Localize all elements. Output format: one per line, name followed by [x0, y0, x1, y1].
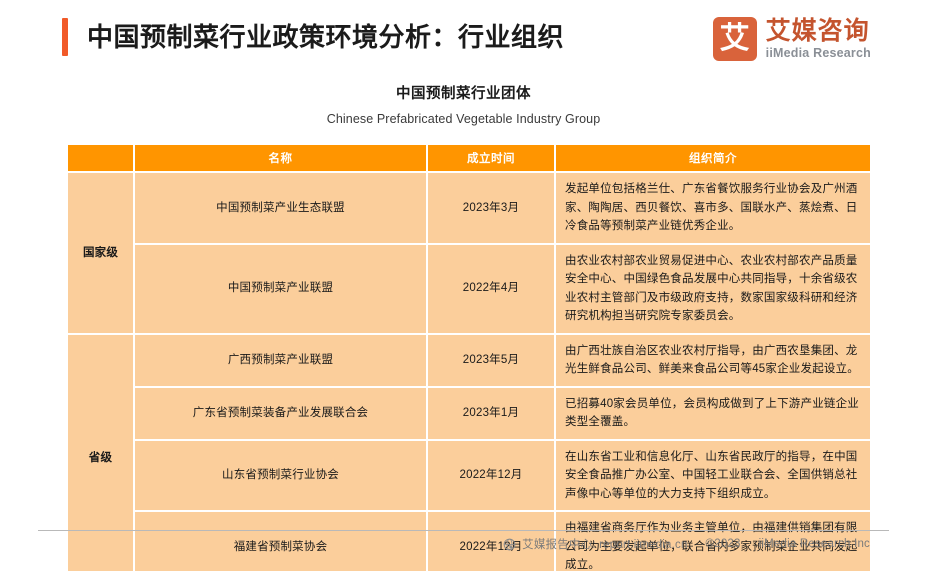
group-desc: 由广西壮族自治区农业农村厅指导，由广西农垦集团、龙光生鲜食品公司、鲜美来食品公司…: [556, 335, 870, 386]
group-desc: 由农业农村部农业贸易促进中心、农业农村部农产品质量安全中心、中国绿色食品发展中心…: [556, 245, 870, 333]
subtitle-cn: 中国预制菜行业团体: [0, 82, 927, 103]
group-name: 广东省预制菜装备产业发展联合会: [135, 388, 426, 439]
group-desc: 在山东省工业和信息化厅、山东省民政厅的指导，在中国安全食品推广办公室、中国轻工业…: [556, 441, 870, 511]
group-name: 山东省预制菜行业协会: [135, 441, 426, 511]
group-name: 福建省预制菜协会: [135, 512, 426, 571]
logo-name-cn: 艾媒咨询: [766, 18, 871, 44]
table-row: 广东省预制菜装备产业发展联合会 2023年1月 已招募40家会员单位，会员构成做…: [68, 388, 870, 439]
table-row: 省级 广西预制菜产业联盟 2023年5月 由广西壮族自治区农业农村厅指导，由广西…: [68, 335, 870, 386]
col-header-name: 名称: [135, 145, 426, 171]
title-block: 中国预制菜行业政策环境分析：行业组织: [62, 18, 564, 56]
industry-group-table: 名称 成立时间 组织简介 国家级 中国预制菜产业生态联盟 2023年3月 发起单…: [66, 143, 872, 571]
table-header-row: 名称 成立时间 组织简介: [68, 145, 870, 171]
group-name: 中国预制菜产业生态联盟: [135, 173, 426, 243]
group-date: 2022年4月: [428, 245, 554, 333]
col-header-date: 成立时间: [428, 145, 554, 171]
logo-name-en: iiMedia Research: [766, 45, 871, 61]
slide-page: 中国预制菜行业政策环境分析：行业组织 艾 艾媒咨询 iiMedia Resear…: [0, 0, 927, 571]
page-footer: 艾媒报告中心: report.iimedia.cn ©2023 iiMedia …: [503, 536, 870, 552]
footer-copyright: ©2023: [706, 538, 741, 550]
logo-text-block: 艾媒咨询 iiMedia Research: [766, 18, 871, 61]
table-row: 国家级 中国预制菜产业生态联盟 2023年3月 发起单位包括格兰仕、广东省餐饮服…: [68, 173, 870, 243]
level-cell-provincial: 省级: [68, 335, 133, 571]
col-header-desc: 组织简介: [556, 145, 870, 171]
table-row: 中国预制菜产业联盟 2022年4月 由农业农村部农业贸易促进中心、农业农村部农产…: [68, 245, 870, 333]
globe-icon: [503, 538, 516, 551]
group-name: 中国预制菜产业联盟: [135, 245, 426, 333]
accent-bar: [62, 18, 68, 56]
footer-report-center: 艾媒报告中心: report.iimedia.cn: [522, 536, 687, 552]
brand-logo: 艾 艾媒咨询 iiMedia Research: [713, 17, 871, 61]
page-title: 中国预制菜行业政策环境分析：行业组织: [87, 18, 564, 56]
col-header-level: [68, 145, 133, 171]
group-date: 2023年3月: [428, 173, 554, 243]
group-date: 2023年1月: [428, 388, 554, 439]
group-desc: 发起单位包括格兰仕、广东省餐饮服务行业协会及广州酒家、陶陶居、西贝餐饮、喜市多、…: [556, 173, 870, 243]
group-date: 2022年12月: [428, 441, 554, 511]
level-cell-national: 国家级: [68, 173, 133, 333]
subtitle-en: Chinese Prefabricated Vegetable Industry…: [0, 112, 927, 126]
table-body: 国家级 中国预制菜产业生态联盟 2023年3月 发起单位包括格兰仕、广东省餐饮服…: [68, 173, 870, 571]
group-desc: 已招募40家会员单位，会员构成做到了上下游产业链企业类型全覆盖。: [556, 388, 870, 439]
footer-company: iiMedia Research Inc: [759, 538, 870, 550]
group-name: 广西预制菜产业联盟: [135, 335, 426, 386]
page-header: 中国预制菜行业政策环境分析：行业组织 艾 艾媒咨询 iiMedia Resear…: [0, 0, 927, 72]
footer-divider: [38, 530, 889, 531]
chart-subtitle-block: 中国预制菜行业团体 Chinese Prefabricated Vegetabl…: [0, 82, 927, 126]
logo-mark-icon: 艾: [713, 17, 757, 61]
group-date: 2023年5月: [428, 335, 554, 386]
table-row: 山东省预制菜行业协会 2022年12月 在山东省工业和信息化厅、山东省民政厅的指…: [68, 441, 870, 511]
industry-group-table-wrap: 名称 成立时间 组织简介 国家级 中国预制菜产业生态联盟 2023年3月 发起单…: [66, 143, 862, 571]
